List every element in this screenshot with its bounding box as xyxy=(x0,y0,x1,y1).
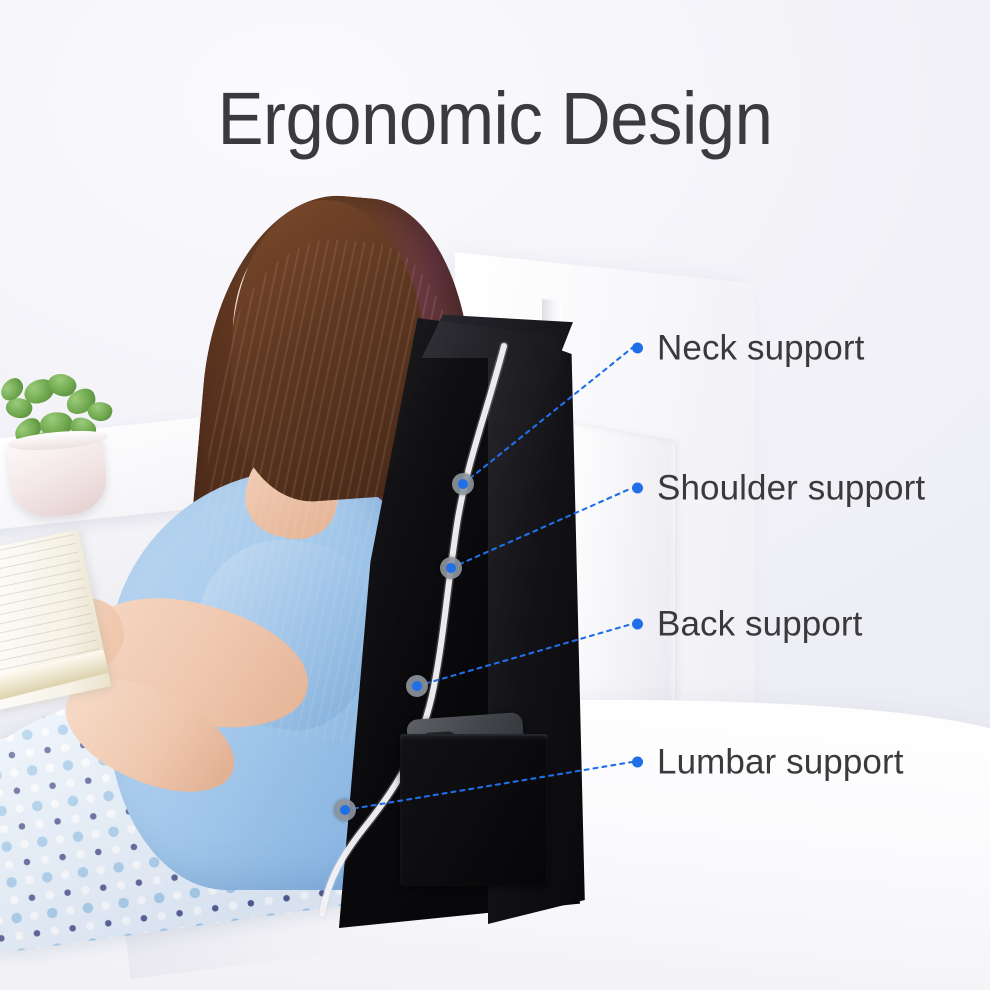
anchor-dot-back[interactable] xyxy=(406,675,428,697)
wedge-pillow xyxy=(318,318,580,928)
anchor-dot-shoulder[interactable] xyxy=(440,557,462,579)
callout-label-text: Shoulder support xyxy=(657,471,925,506)
anchor-dot-lumbar[interactable] xyxy=(334,799,356,821)
callout-label-text: Back support xyxy=(657,607,862,642)
infographic-canvas: Ergonomic Design Neck support Shoulder s… xyxy=(0,0,990,990)
callout-label-neck[interactable]: Neck support xyxy=(632,331,864,366)
callout-label-shoulder[interactable]: Shoulder support xyxy=(632,471,925,506)
blue-dot-icon xyxy=(632,343,643,354)
blue-dot-icon xyxy=(632,483,643,494)
callout-label-text: Lumbar support xyxy=(657,745,904,780)
pillow-side-pocket xyxy=(400,736,548,886)
page-title: Ergonomic Design xyxy=(35,82,956,156)
callout-label-lumbar[interactable]: Lumbar support xyxy=(632,745,904,780)
callout-label-text: Neck support xyxy=(657,331,864,366)
callout-label-back[interactable]: Back support xyxy=(632,607,862,642)
blue-dot-icon xyxy=(632,619,643,630)
anchor-dot-neck[interactable] xyxy=(452,473,474,495)
blue-dot-icon xyxy=(632,757,643,768)
